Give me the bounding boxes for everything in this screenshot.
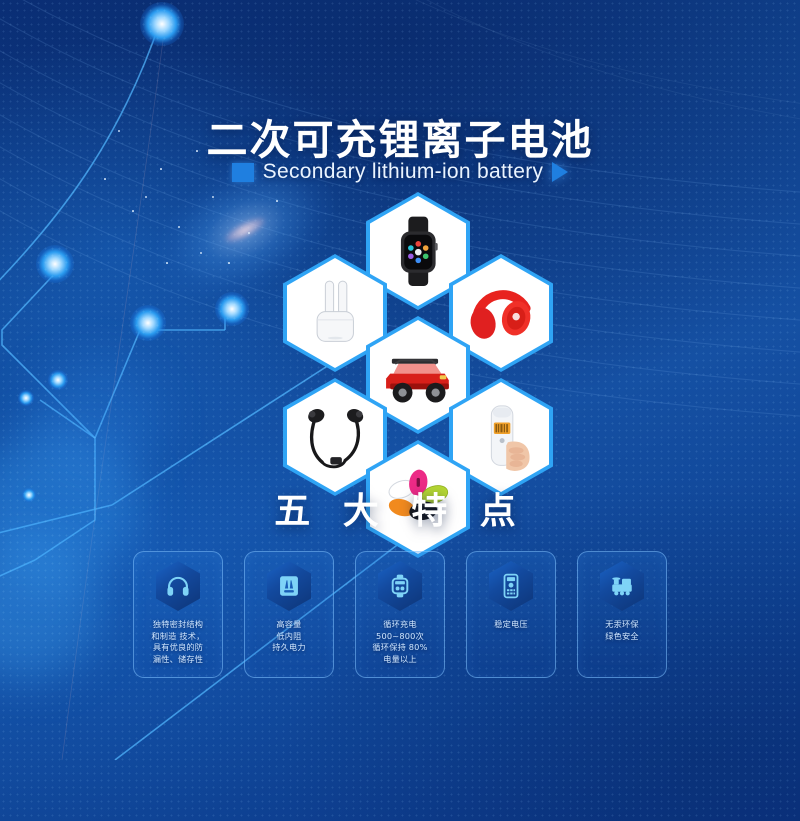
product-hex-cluster — [283, 192, 553, 460]
voice-recorder-icon — [498, 573, 524, 599]
train-icon — [609, 573, 635, 599]
rc-jeep-hex-icon — [377, 328, 460, 423]
page-title: 二次可充锂离子电池 — [0, 106, 800, 166]
feature-card-capacity[interactable]: 高容量 低内阻 持久电力 — [244, 551, 334, 678]
poster-canvas: 二次可充锂离子电池 Secondary lithium-ion battery — [0, 0, 800, 821]
feature-text: 无汞环保 绿色安全 — [602, 619, 642, 642]
feature-badge — [378, 561, 422, 611]
smartwatch-icon — [387, 573, 413, 599]
red-headphones-hex-icon — [460, 266, 543, 361]
page-subtitle: Secondary lithium-ion battery — [263, 160, 544, 184]
feature-badge — [600, 561, 644, 611]
headphones-icon — [165, 573, 191, 599]
feature-badge — [156, 561, 200, 611]
earbuds-case-hex-icon — [294, 266, 377, 361]
feature-card-cycle-life[interactable]: 循环充电 500~800次 循环保持 80% 电量以上 — [355, 551, 445, 678]
feature-card-eco-friendly[interactable]: 无汞环保 绿色安全 — [577, 551, 667, 678]
feature-badge — [489, 561, 533, 611]
section-title: 五 大 特 点 — [0, 482, 800, 534]
handheld-device-hex-icon — [460, 390, 543, 485]
wired-earphones-hex-icon — [294, 390, 377, 485]
feature-card-list: 独特密封结构 和制造 技术， 具有优良的防 漏性、储存性 高容量 低内阻 持久电… — [133, 551, 667, 676]
feature-text: 独特密封结构 和制造 技术， 具有优良的防 漏性、储存性 — [148, 619, 207, 665]
feature-text: 循环充电 500~800次 循环保持 80% 电量以上 — [369, 619, 430, 665]
subtitle-row: Secondary lithium-ion battery — [0, 160, 800, 184]
scale-icon — [276, 573, 302, 599]
smartwatch-hex-icon — [377, 204, 460, 299]
feature-card-stable-voltage[interactable]: 稳定电压 — [466, 551, 556, 678]
feature-text: 稳定电压 — [491, 619, 531, 631]
square-marker-icon — [232, 163, 254, 182]
feature-badge — [267, 561, 311, 611]
feature-text: 高容量 低内阻 持久电力 — [269, 619, 309, 654]
feature-card-sealing[interactable]: 独特密封结构 和制造 技术， 具有优良的防 漏性、储存性 — [133, 551, 223, 678]
triangle-marker-icon — [552, 162, 568, 182]
